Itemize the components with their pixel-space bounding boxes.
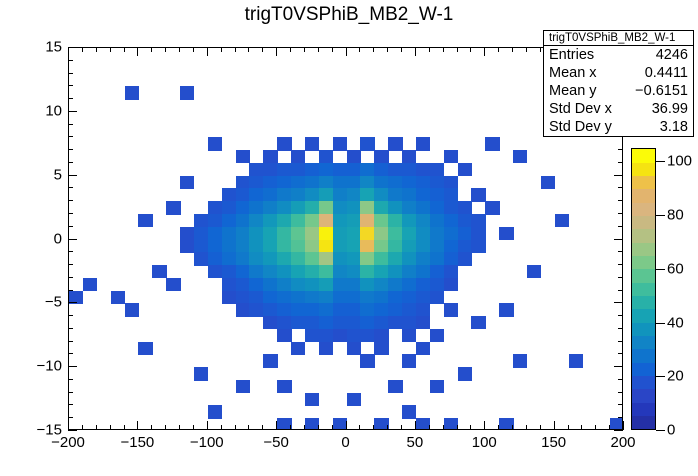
heatmap-bin [402, 405, 416, 418]
x-axis-minor-tick [304, 47, 305, 52]
heatmap-bin [249, 227, 263, 240]
y-axis-tick-label: 5 [22, 166, 62, 183]
x-axis-minor-tick [359, 425, 360, 430]
heatmap-bin [416, 201, 430, 214]
heatmap-bin [208, 227, 222, 240]
x-axis-minor-tick [96, 425, 97, 430]
heatmap-bin [236, 188, 250, 201]
heatmap-bin [388, 176, 402, 189]
heatmap-bin [277, 316, 291, 329]
x-axis-tick [484, 47, 485, 56]
x-axis-minor-tick [609, 425, 610, 430]
stats-row-key: Entries [549, 46, 600, 64]
heatmap-bin [83, 278, 97, 291]
heatmap-bin [333, 201, 347, 214]
heatmap-bin [236, 265, 250, 278]
y-axis-minor-tick [68, 200, 73, 201]
heatmap-bin [333, 265, 347, 278]
heatmap-bin [458, 227, 472, 240]
heatmap-bin [208, 214, 222, 227]
x-axis-minor-tick [124, 425, 125, 430]
heatmap-bin [416, 214, 430, 227]
heatmap-bin [208, 201, 222, 214]
heatmap-bin [402, 150, 416, 163]
y-axis-minor-tick [68, 149, 73, 150]
heatmap-bin [305, 393, 319, 406]
plot-frame [68, 47, 623, 430]
stats-row-key: Std Dev y [549, 118, 618, 136]
heatmap-bin [236, 278, 250, 291]
x-axis-minor-tick [221, 47, 222, 52]
x-axis-minor-tick [193, 47, 194, 52]
heatmap-bin [236, 176, 250, 189]
x-axis-minor-tick [165, 47, 166, 52]
x-axis-tick-label: −150 [120, 434, 154, 451]
x-axis-minor-tick [443, 47, 444, 52]
heatmap-bin [347, 176, 361, 189]
heatmap-bin [236, 201, 250, 214]
heatmap-bin [305, 227, 319, 240]
x-axis-minor-tick [82, 425, 83, 430]
heatmap-bin [319, 176, 333, 189]
stats-row-value: 36.99 [652, 100, 688, 118]
heatmap-bin [333, 163, 347, 176]
heatmap-bin [263, 214, 277, 227]
heatmap-bin [416, 163, 430, 176]
x-axis-tick [415, 47, 416, 56]
heatmap-bin [333, 137, 347, 150]
heatmap-bin [471, 188, 485, 201]
x-axis-minor-tick [110, 425, 111, 430]
x-axis-minor-tick [82, 47, 83, 52]
stats-row-value: 0.4411 [645, 64, 688, 82]
y-axis-minor-tick [618, 353, 623, 354]
x-axis-minor-tick [221, 425, 222, 430]
y-axis-minor-tick [68, 251, 73, 252]
heatmap-bin [319, 265, 333, 278]
heatmap-bin [444, 303, 458, 316]
heatmap-bin [180, 227, 194, 240]
heatmap-bin [249, 265, 263, 278]
color-scale-cell [632, 176, 655, 190]
heatmap-bin [347, 163, 361, 176]
heatmap-bin [388, 265, 402, 278]
stats-row-value: 4246 [656, 46, 688, 64]
color-scale-tick [656, 376, 665, 377]
y-axis-tick-label: −15 [22, 422, 62, 439]
heatmap-bin [249, 278, 263, 291]
heatmap-bin [402, 176, 416, 189]
heatmap-bin [360, 252, 374, 265]
heatmap-bin [263, 188, 277, 201]
heatmap-bin [430, 329, 444, 342]
heatmap-bin [360, 214, 374, 227]
y-axis-minor-tick [68, 392, 73, 393]
heatmap-bin [374, 240, 388, 253]
heatmap-bin [555, 214, 569, 227]
heatmap-bin [388, 252, 402, 265]
x-axis-minor-tick [248, 425, 249, 430]
heatmap-bin [430, 214, 444, 227]
heatmap-bin [444, 201, 458, 214]
heatmap-bin [444, 240, 458, 253]
heatmap-bin [360, 329, 374, 342]
x-axis-minor-tick [595, 425, 596, 430]
heatmap-bin [305, 137, 319, 150]
page-title: trigT0VSPhiB_MB2_W-1 [0, 4, 698, 26]
heatmap-bin [360, 201, 374, 214]
heatmap-bin [471, 316, 485, 329]
heatmap-bin [249, 252, 263, 265]
x-axis-minor-tick [540, 425, 541, 430]
heatmap-bin [194, 367, 208, 380]
heatmap-bin [263, 176, 277, 189]
heatmap-bin [541, 176, 555, 189]
root-canvas: trigT0VSPhiB_MB2_W-1 −200−150−100−500501… [0, 0, 698, 476]
heatmap-bin [347, 201, 361, 214]
heatmap-bin [263, 316, 277, 329]
heatmap-bin [416, 265, 430, 278]
heatmap-bin [402, 214, 416, 227]
heatmap-bin [208, 240, 222, 253]
color-scale-cell [632, 189, 655, 203]
color-scale-cell [632, 256, 655, 270]
heatmap-bin [430, 278, 444, 291]
heatmap-bin [374, 176, 388, 189]
heatmap-bin [333, 227, 347, 240]
color-scale-cell [632, 322, 655, 336]
heatmap-bin [430, 291, 444, 304]
y-axis-minor-tick [618, 315, 623, 316]
heatmap-bin [208, 265, 222, 278]
heatmap-bin [430, 265, 444, 278]
heatmap-bin [347, 188, 361, 201]
heatmap-bin [444, 227, 458, 240]
color-scale-cell [632, 269, 655, 283]
heatmap-bin [125, 303, 139, 316]
x-axis-minor-tick [193, 425, 194, 430]
heatmap-bin [291, 176, 305, 189]
heatmap-bin [319, 278, 333, 291]
x-axis-minor-tick [262, 47, 263, 52]
heatmap-bin [319, 163, 333, 176]
heatmap-bin [319, 342, 333, 355]
heatmap-bin [374, 303, 388, 316]
heatmap-bin [305, 265, 319, 278]
heatmap-bin [194, 227, 208, 240]
y-axis-minor-tick [68, 73, 73, 74]
heatmap-bin [347, 393, 361, 406]
stats-row-key: Mean y [549, 82, 603, 100]
heatmap-bin [388, 380, 402, 393]
heatmap-bin [360, 163, 374, 176]
x-axis-tick-label: 150 [541, 434, 566, 451]
x-axis-minor-tick [429, 425, 430, 430]
color-scale-tick-label: 100 [667, 153, 692, 170]
x-axis-minor-tick [429, 47, 430, 52]
x-axis-tick [276, 421, 277, 430]
y-axis-tick [68, 47, 77, 48]
x-axis-tick [207, 421, 208, 430]
heatmap-bin [291, 303, 305, 316]
y-axis-tick-label: −10 [22, 358, 62, 375]
heatmap-bin [180, 240, 194, 253]
heatmap-bin [388, 214, 402, 227]
heatmap-bin [444, 176, 458, 189]
heatmap-bin [347, 342, 361, 355]
heatmap-bin [222, 252, 236, 265]
y-axis-minor-tick [68, 341, 73, 342]
stats-row-value: −0.6151 [635, 82, 688, 100]
heatmap-bin [444, 265, 458, 278]
color-scale-cell [632, 282, 655, 296]
heatmap-bin [319, 316, 333, 329]
heatmap-bin [263, 291, 277, 304]
heatmap-bin [249, 188, 263, 201]
heatmap-bin [388, 303, 402, 316]
x-axis-minor-tick [179, 47, 180, 52]
heatmap-bin [347, 214, 361, 227]
color-scale-bar [631, 148, 656, 430]
heatmap-bin [263, 163, 277, 176]
x-axis-minor-tick [165, 425, 166, 430]
color-scale-cell [632, 416, 655, 430]
heatmap-bin [360, 316, 374, 329]
y-axis-minor-tick [68, 85, 73, 86]
y-axis-minor-tick [68, 353, 73, 354]
heatmap-bin [430, 252, 444, 265]
heatmap-bin [291, 150, 305, 163]
heatmap-bin [277, 137, 291, 150]
color-scale-tick [656, 430, 665, 431]
heatmap-bin [291, 163, 305, 176]
heatmap-bin [333, 176, 347, 189]
x-axis-minor-tick [526, 47, 527, 52]
x-axis-tick [346, 421, 347, 430]
heatmap-bin [388, 278, 402, 291]
x-axis-minor-tick [512, 47, 513, 52]
x-axis-tick-label: −50 [263, 434, 288, 451]
heatmap-bin [485, 201, 499, 214]
heatmap-bin [305, 201, 319, 214]
y-axis-minor-tick [68, 264, 73, 265]
heatmap-bin [458, 214, 472, 227]
heatmap-bin [347, 291, 361, 304]
x-axis-tick [554, 421, 555, 430]
heatmap-bin [402, 252, 416, 265]
stats-box: trigT0VSPhiB_MB2_W-1 Entries4246Mean x0.… [543, 30, 694, 137]
heatmap-bin [236, 227, 250, 240]
stats-box-header: trigT0VSPhiB_MB2_W-1 [544, 31, 693, 46]
heatmap-bin [416, 176, 430, 189]
heatmap-bin [263, 201, 277, 214]
heatmap-bin [222, 201, 236, 214]
y-axis-minor-tick [618, 328, 623, 329]
x-axis-minor-tick [526, 425, 527, 430]
heatmap-bin [138, 342, 152, 355]
heatmap-bin [388, 240, 402, 253]
heatmap-bin [360, 240, 374, 253]
heatmap-bin [263, 150, 277, 163]
heatmap-bin [416, 303, 430, 316]
heatmap-bin [236, 252, 250, 265]
heatmap-bin [402, 354, 416, 367]
heatmap-bin [277, 163, 291, 176]
heatmap-bin [277, 252, 291, 265]
heatmap-bin [430, 227, 444, 240]
heatmap-bin [402, 291, 416, 304]
heatmap-bin [499, 227, 513, 240]
heatmap-bin [444, 252, 458, 265]
heatmap-bin [333, 291, 347, 304]
y-axis-tick-label: 0 [22, 230, 62, 247]
heatmap-bin [222, 227, 236, 240]
heatmap-bin [305, 316, 319, 329]
heatmap-bin [333, 214, 347, 227]
heatmap-bin [444, 278, 458, 291]
heatmap-bin [291, 291, 305, 304]
x-axis-minor-tick [262, 425, 263, 430]
heatmap-bin [360, 303, 374, 316]
y-axis-minor-tick [68, 379, 73, 380]
heatmap-bin [222, 240, 236, 253]
stats-row: Mean y−0.6151 [544, 82, 693, 100]
heatmap-bin [166, 201, 180, 214]
heatmap-bin [416, 316, 430, 329]
color-scale-tick [656, 161, 665, 162]
heatmap-bin [333, 303, 347, 316]
heatmap-bin [222, 188, 236, 201]
y-axis-minor-tick [68, 136, 73, 137]
heatmap-bin [347, 329, 361, 342]
heatmap-bin [222, 291, 236, 304]
x-axis-minor-tick [151, 47, 152, 52]
y-axis-minor-tick [618, 200, 623, 201]
x-axis-minor-tick [290, 47, 291, 52]
y-axis-minor-tick [618, 417, 623, 418]
heatmap-bin [347, 303, 361, 316]
heatmap-bin [305, 188, 319, 201]
heatmap-bin [416, 342, 430, 355]
y-axis-minor-tick [618, 277, 623, 278]
x-axis-minor-tick [498, 47, 499, 52]
y-axis-minor-tick [68, 315, 73, 316]
y-axis-minor-tick [68, 213, 73, 214]
heatmap-bin [374, 278, 388, 291]
stats-row: Entries4246 [544, 46, 693, 64]
heatmap-bin [319, 214, 333, 227]
heatmap-bin [291, 316, 305, 329]
heatmap-bin [319, 303, 333, 316]
y-axis-tick [614, 366, 623, 367]
heatmap-bin [305, 176, 319, 189]
y-axis-minor-tick [618, 341, 623, 342]
y-axis-minor-tick [618, 162, 623, 163]
stats-row-key: Mean x [549, 64, 603, 82]
heatmap-bin [125, 86, 139, 99]
x-axis-minor-tick [443, 425, 444, 430]
heatmap-bin [416, 252, 430, 265]
x-axis-tick-label: 0 [341, 434, 349, 451]
heatmap-bin [249, 303, 263, 316]
heatmap-bin [319, 188, 333, 201]
color-scale-cell [632, 349, 655, 363]
heatmap-bin [277, 214, 291, 227]
y-axis-minor-tick [68, 290, 73, 291]
heatmap-bin [347, 252, 361, 265]
y-axis-tick [68, 175, 77, 176]
heatmap-bin [236, 291, 250, 304]
heatmap-bin [402, 316, 416, 329]
heatmap-bin [374, 201, 388, 214]
y-axis-tick-label: 15 [22, 39, 62, 56]
x-axis-minor-tick [248, 47, 249, 52]
heatmap-bin [236, 240, 250, 253]
heatmap-bin [374, 291, 388, 304]
stats-row-key: Std Dev x [549, 100, 618, 118]
x-axis-minor-tick [373, 47, 374, 52]
heatmap-bin [569, 354, 583, 367]
heatmap-bin [333, 329, 347, 342]
x-axis-tick-label: −100 [190, 434, 224, 451]
heatmap-bin [249, 176, 263, 189]
color-scale-tick-label: 60 [667, 260, 684, 277]
heatmap-bin [360, 176, 374, 189]
y-axis-minor-tick [618, 149, 623, 150]
heatmap-bin [208, 137, 222, 150]
heatmap-bin [374, 342, 388, 355]
y-axis-tick-label: −5 [22, 294, 62, 311]
heatmap-bin [319, 329, 333, 342]
y-axis-minor-tick [618, 290, 623, 291]
heatmap-bin [277, 380, 291, 393]
heatmap-bin [277, 329, 291, 342]
heatmap-bin [236, 150, 250, 163]
heatmap-bin [249, 291, 263, 304]
heatmap-bin [249, 240, 263, 253]
x-axis-tick [207, 47, 208, 56]
heatmap-bin [388, 291, 402, 304]
x-axis-minor-tick [568, 425, 569, 430]
y-axis-tick [614, 239, 623, 240]
heatmap-bin [319, 252, 333, 265]
heatmap-bin [388, 188, 402, 201]
heatmap-bin [249, 163, 263, 176]
heatmap-bin [374, 214, 388, 227]
heatmap-bin [388, 163, 402, 176]
heatmap-bin [402, 265, 416, 278]
heatmap-bin [374, 252, 388, 265]
heatmap-bin [277, 291, 291, 304]
heatmap-bin [277, 278, 291, 291]
heatmap-bin [180, 86, 194, 99]
heatmap-bin [347, 316, 361, 329]
color-scale-cell [632, 242, 655, 256]
heatmap-bin [402, 163, 416, 176]
heatmap-bin [430, 163, 444, 176]
heatmap-bin [430, 240, 444, 253]
heatmap-bin [263, 252, 277, 265]
heatmap-bin [236, 214, 250, 227]
heatmap-bin [388, 227, 402, 240]
heatmap-bin [111, 291, 125, 304]
x-axis-minor-tick [332, 425, 333, 430]
heatmap-bin [471, 214, 485, 227]
x-axis-minor-tick [290, 425, 291, 430]
x-axis-tick [623, 421, 624, 430]
heatmap-bin [458, 163, 472, 176]
heatmap-bin [194, 240, 208, 253]
